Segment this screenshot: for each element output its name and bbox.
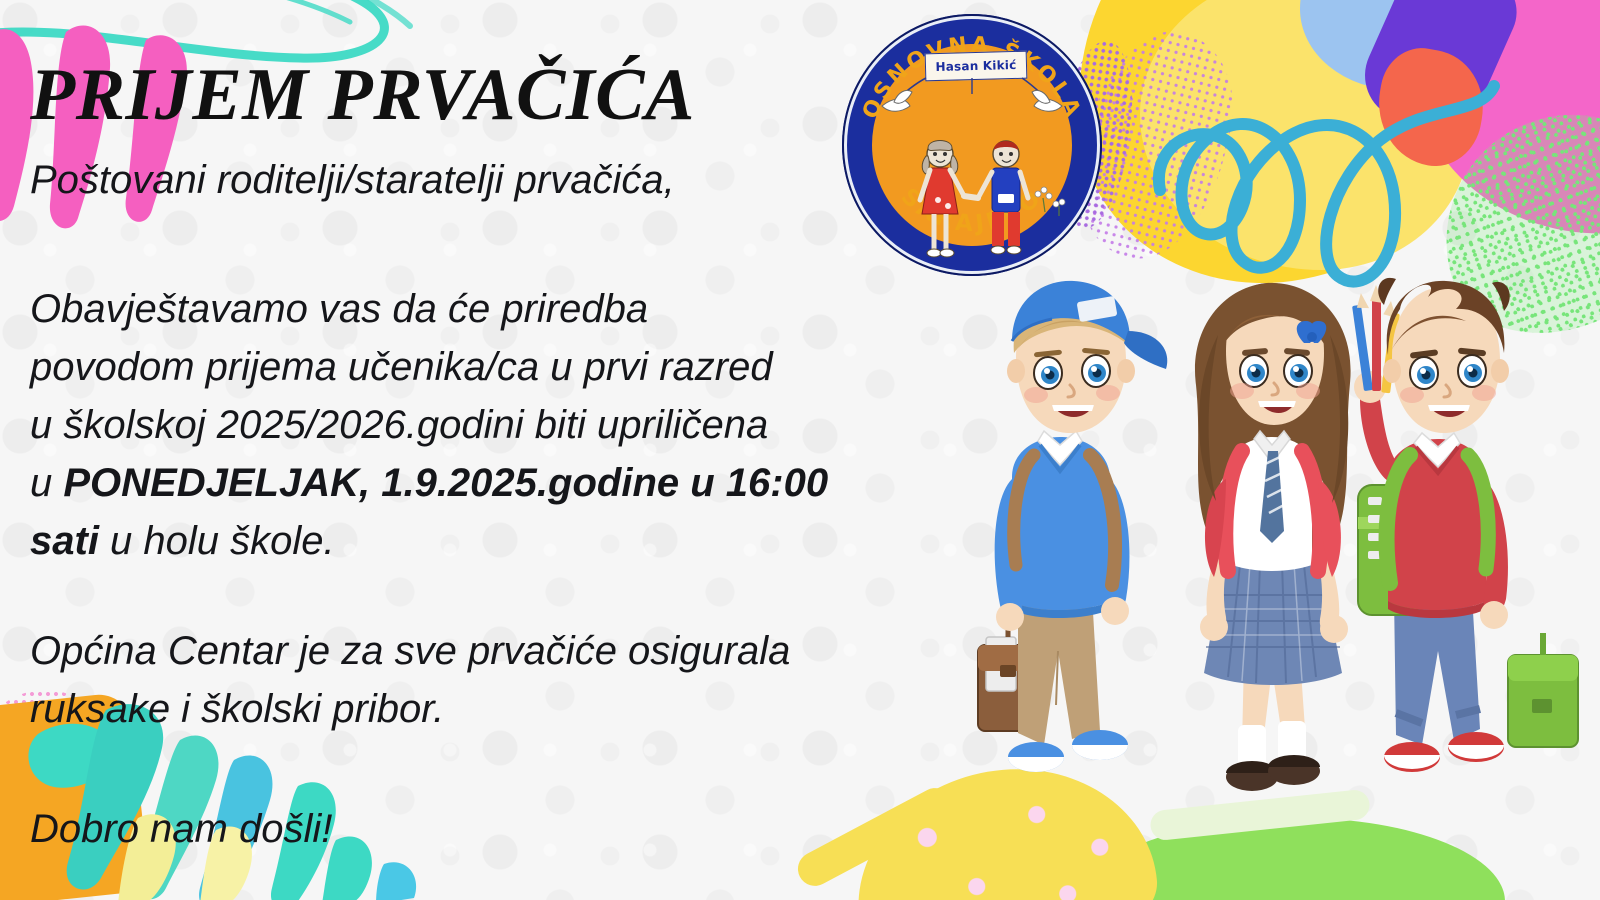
child-left-boy-with-blue-cap (978, 281, 1167, 772)
second-paragraph: Općina Centar je za sve prvačiće osigura… (30, 622, 990, 738)
closing-line: Dobro nam došli! (30, 800, 730, 858)
page-title: PRIJEM PRVAČIĆA (30, 58, 695, 132)
main-paragraph-line-4: u PONEDJELJAK, 1.9.2025.godine u 16:00 (30, 454, 990, 512)
event-datetime-emphasis: PONEDJELJAK, 1.9.2025.godine u 16:00 (63, 461, 828, 505)
main-paragraph-line-2: povodom prijema učenika/ca u prvi razred (30, 338, 990, 396)
logo-inner-drawing (842, 14, 1102, 276)
logo-flowers (1035, 187, 1065, 216)
coral-blob-decoration (1369, 42, 1492, 173)
logo-boy-figure (978, 141, 1028, 254)
left-boy-head (1007, 281, 1167, 433)
event-time-unit-emphasis: sati (30, 519, 99, 563)
magenta-brush-decoration (1380, 0, 1600, 275)
second-paragraph-line-1: Općina Centar je za sve prvačiće osigura… (30, 622, 990, 680)
logo-bird-left (882, 90, 912, 111)
yellow-blob-decoration (1049, 0, 1521, 307)
right-boy-head (1378, 278, 1510, 433)
logo-bird-right (1032, 90, 1062, 111)
line-5-suffix: u holu škole. (99, 519, 335, 563)
logo-girl-figure (920, 141, 964, 258)
yellow-blob-secondary-decoration (1140, 0, 1470, 270)
three-schoolchildren-illustration (960, 265, 1600, 865)
main-paragraph: Obavještavamo vas da će priredba povodom… (30, 280, 990, 570)
light-blue-blob-decoration (1300, 0, 1520, 90)
school-logo: OSNOVNA ŠKOLA SARAJEVO Hasan Kikić (842, 14, 1102, 276)
child-center-girl (1195, 283, 1351, 791)
line-4-prefix: u (30, 461, 63, 505)
green-handbag (1508, 633, 1578, 747)
main-paragraph-line-3: u školskoj 2025/2026.godini biti uprilič… (30, 396, 990, 454)
second-paragraph-line-2: ruksake i školski pribor. (30, 680, 990, 738)
main-paragraph-line-1: Obavještavamo vas da će priredba (30, 280, 990, 338)
poster-canvas: OSNOVNA ŠKOLA SARAJEVO Hasan Kikić (0, 0, 1600, 900)
child-right-boy-with-green-backpack (1352, 278, 1578, 772)
purple-stroke-decoration (1351, 0, 1530, 147)
main-paragraph-line-5: sati u holu škole. (30, 512, 990, 570)
greeting-line: Poštovani roditelji/staratelji prvačića, (30, 158, 675, 203)
yellow-line-decoration (792, 782, 958, 892)
